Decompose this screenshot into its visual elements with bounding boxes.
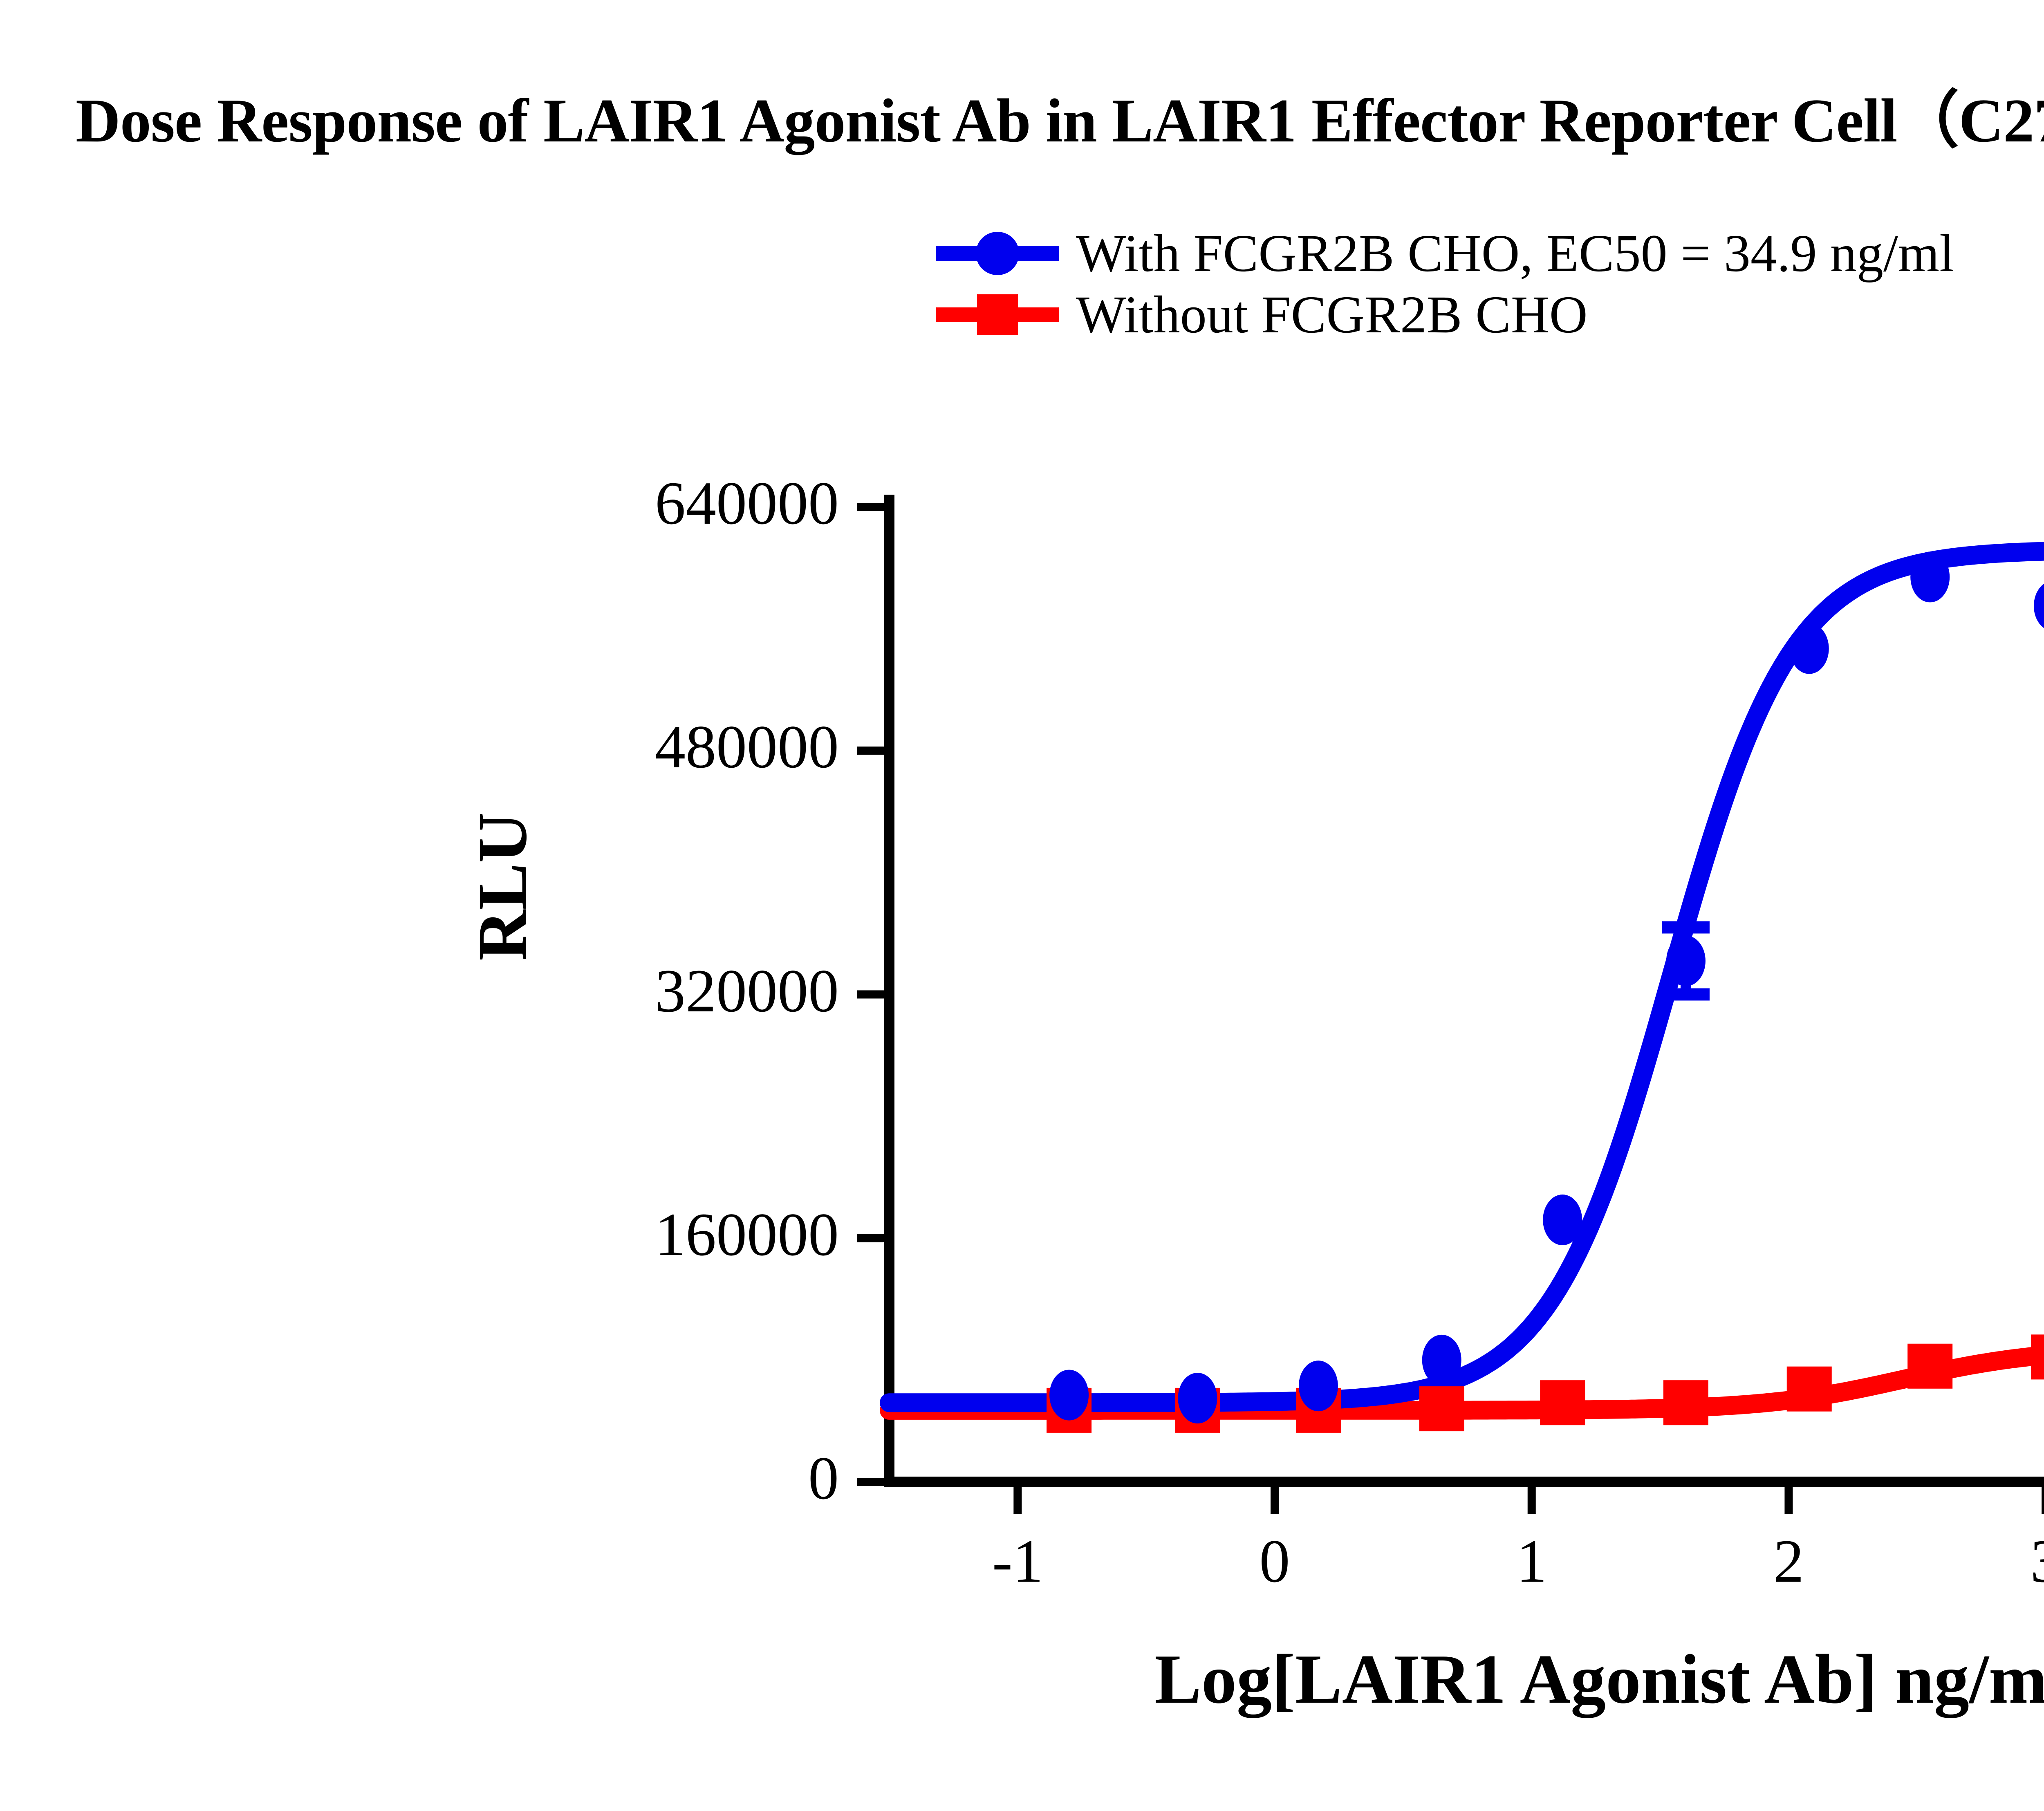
data-point-circle — [1178, 1373, 1217, 1423]
data-point-square — [2031, 1334, 2044, 1379]
data-point-circle — [2034, 581, 2044, 631]
data-point-square — [1907, 1344, 1952, 1389]
data-point-circle — [1666, 936, 1706, 986]
y-tick-label: 0 — [808, 1443, 839, 1513]
plot-area: 0160000320000480000640000 -101234 — [0, 0, 2044, 1811]
data-point-square — [1787, 1367, 1832, 1412]
y-tick-label: 480000 — [655, 712, 839, 782]
x-tick-label: 0 — [1193, 1526, 1356, 1596]
chart-figure: Dose Response of LAIR1 Agonist Ab in LAI… — [0, 0, 2044, 1811]
series-curve-with-fcgr2b — [889, 549, 2044, 1403]
data-point-square — [1419, 1386, 1464, 1431]
data-point-circle — [1299, 1360, 1338, 1411]
data-point-circle — [1910, 551, 1950, 602]
x-tick-label: 2 — [1707, 1526, 1870, 1596]
data-point-circle — [1422, 1335, 1461, 1385]
y-tick-label: 160000 — [655, 1199, 839, 1270]
x-tick-label: -1 — [936, 1526, 1099, 1596]
data-point-circle — [1049, 1370, 1089, 1421]
data-point-square — [1540, 1380, 1585, 1425]
data-point-circle — [1543, 1195, 1582, 1245]
data-point-circle — [1790, 623, 1829, 674]
y-tick-label: 320000 — [655, 956, 839, 1026]
y-axis-title: RLU — [463, 764, 543, 1009]
series-points-with-fcgr2b — [1049, 500, 2044, 1423]
x-axis-title: Log[LAIR1 Agonist Ab] ng/ml — [0, 1639, 2044, 1720]
y-tick-label: 640000 — [655, 468, 839, 538]
data-point-square — [1663, 1380, 1708, 1425]
x-tick-label: 3 — [1964, 1526, 2044, 1596]
x-tick-label: 1 — [1450, 1526, 1614, 1596]
